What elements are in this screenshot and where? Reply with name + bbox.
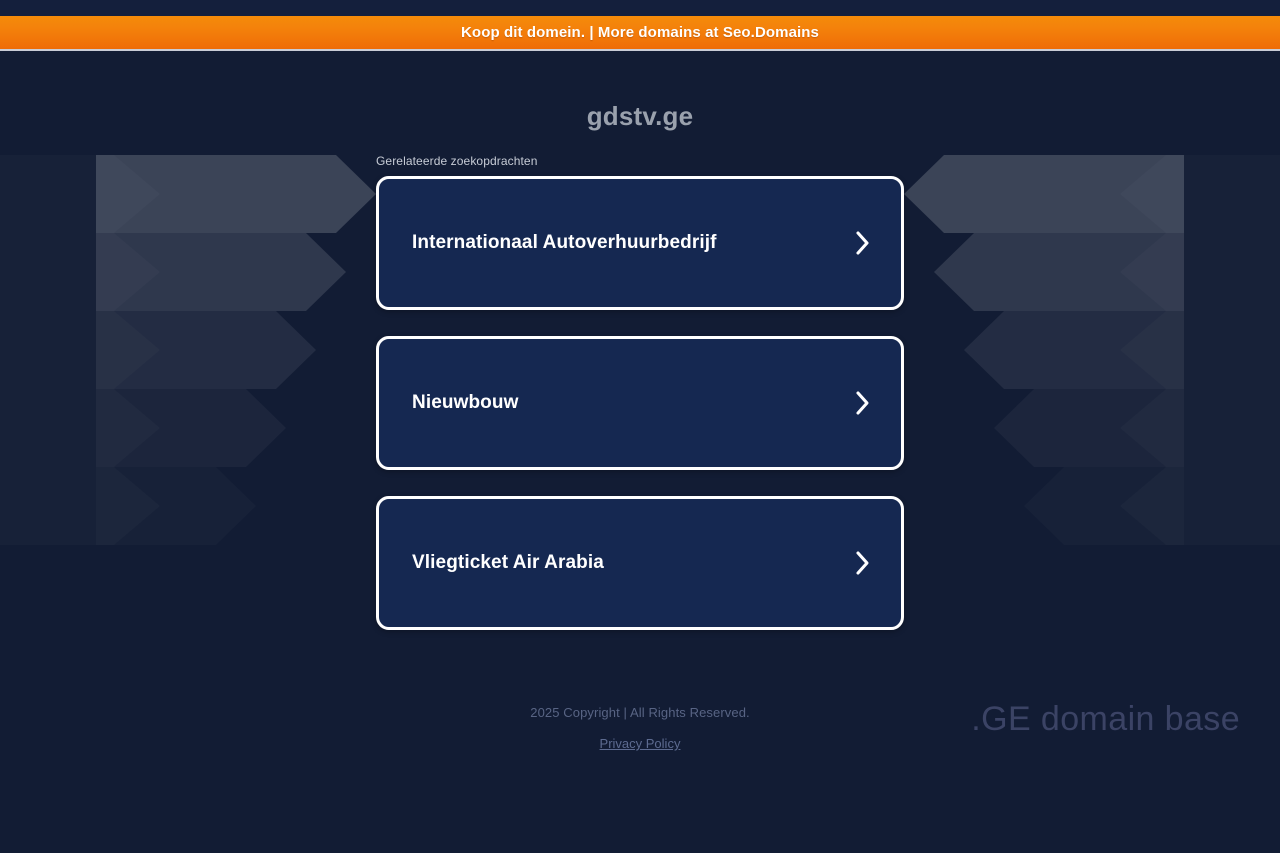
chevron-right-icon (855, 230, 871, 256)
buy-domain-banner[interactable]: Koop dit domein. | More domains at Seo.D… (0, 16, 1280, 51)
related-search-card-2[interactable]: Nieuwbouw (376, 336, 904, 470)
privacy-policy-link[interactable]: Privacy Policy (600, 736, 681, 751)
page-title: gdstv.ge (0, 53, 1280, 132)
top-strip (0, 0, 1280, 16)
buy-domain-banner-text: Koop dit domein. | More domains at Seo.D… (461, 24, 819, 41)
related-searches-section: Gerelateerde zoekopdrachten Internationa… (376, 132, 904, 630)
related-search-label-3: Vliegticket Air Arabia (412, 552, 604, 574)
related-search-label-2: Nieuwbouw (412, 392, 518, 414)
ge-domain-base-watermark: .GE domain base (971, 700, 1240, 739)
related-search-label-1: Internationaal Autoverhuurbedrijf (412, 232, 717, 254)
chevron-right-icon (855, 390, 871, 416)
domain-parking-page: Koop dit domein. | More domains at Seo.D… (0, 0, 1280, 853)
related-searches-label: Gerelateerde zoekopdrachten (376, 154, 904, 176)
chevron-right-icon (855, 550, 871, 576)
main-content: gdstv.ge Gerelateerde zoekopdrachten Int… (0, 53, 1280, 656)
related-search-card-1[interactable]: Internationaal Autoverhuurbedrijf (376, 176, 904, 310)
related-search-card-3[interactable]: Vliegticket Air Arabia (376, 496, 904, 630)
